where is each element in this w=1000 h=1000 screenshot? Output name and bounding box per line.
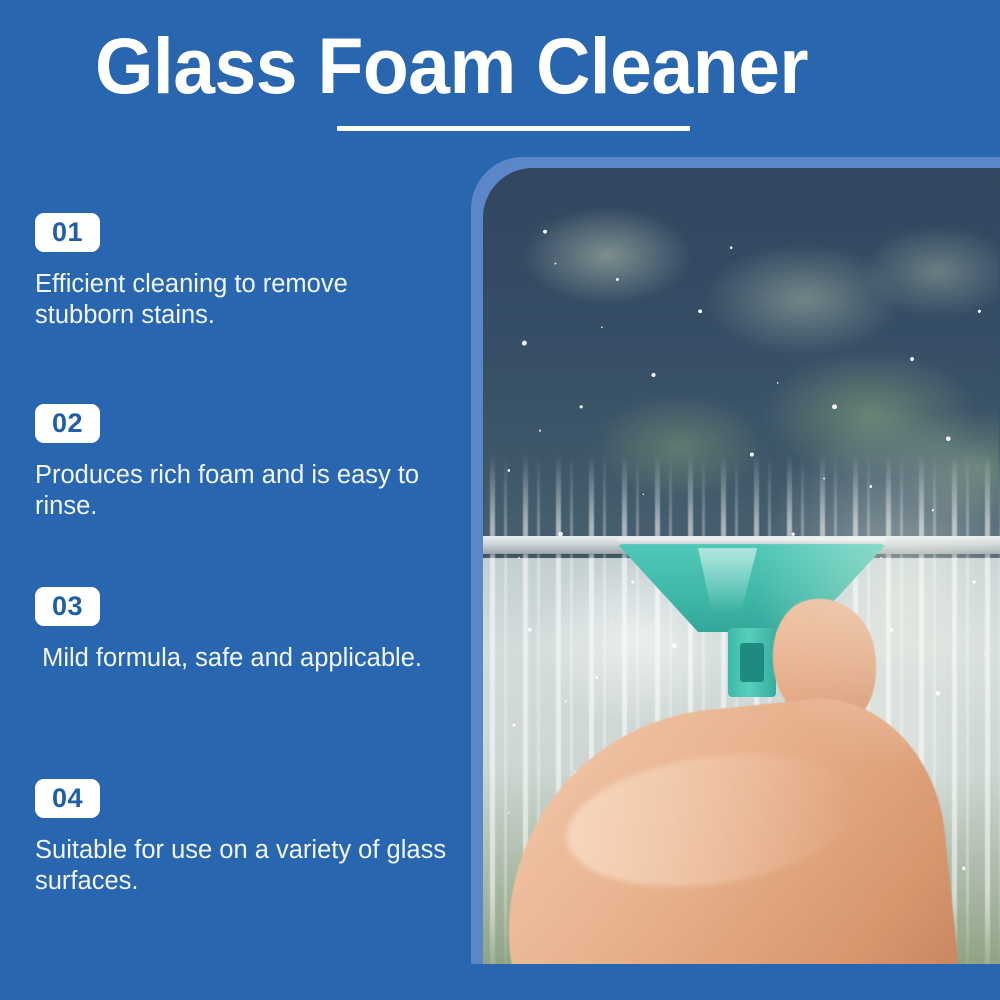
infographic-page: Glass Foam Cleaner 01 Efficient cleaning… bbox=[0, 0, 1000, 1000]
feature-number-badge-04: 04 bbox=[35, 779, 100, 818]
feature-text-02: Produces rich foam and is easy to rinse. bbox=[35, 460, 475, 522]
feature-item-04: 04 Suitable for use on a variety of glas… bbox=[35, 779, 475, 897]
feature-number-badge-01: 01 bbox=[35, 213, 100, 252]
feature-number-badge-02: 02 bbox=[35, 404, 100, 443]
title-underline-rule bbox=[337, 126, 690, 131]
squeegee-grip bbox=[740, 643, 764, 681]
feature-item-02: 02 Produces rich foam and is easy to rin… bbox=[35, 404, 475, 522]
page-title: Glass Foam Cleaner bbox=[95, 24, 884, 108]
feature-text-01: Efficient cleaning to remove stubborn st… bbox=[35, 269, 475, 331]
feature-text-03: Mild formula, safe and applicable. bbox=[35, 643, 475, 674]
product-photo bbox=[483, 168, 1000, 964]
feature-item-03: 03 Mild formula, safe and applicable. bbox=[35, 587, 475, 674]
feature-item-01: 01 Efficient cleaning to remove stubborn… bbox=[35, 213, 475, 331]
photo-scene bbox=[483, 168, 1000, 964]
feature-text-04: Suitable for use on a variety of glass s… bbox=[35, 835, 475, 897]
feature-number-badge-03: 03 bbox=[35, 587, 100, 626]
